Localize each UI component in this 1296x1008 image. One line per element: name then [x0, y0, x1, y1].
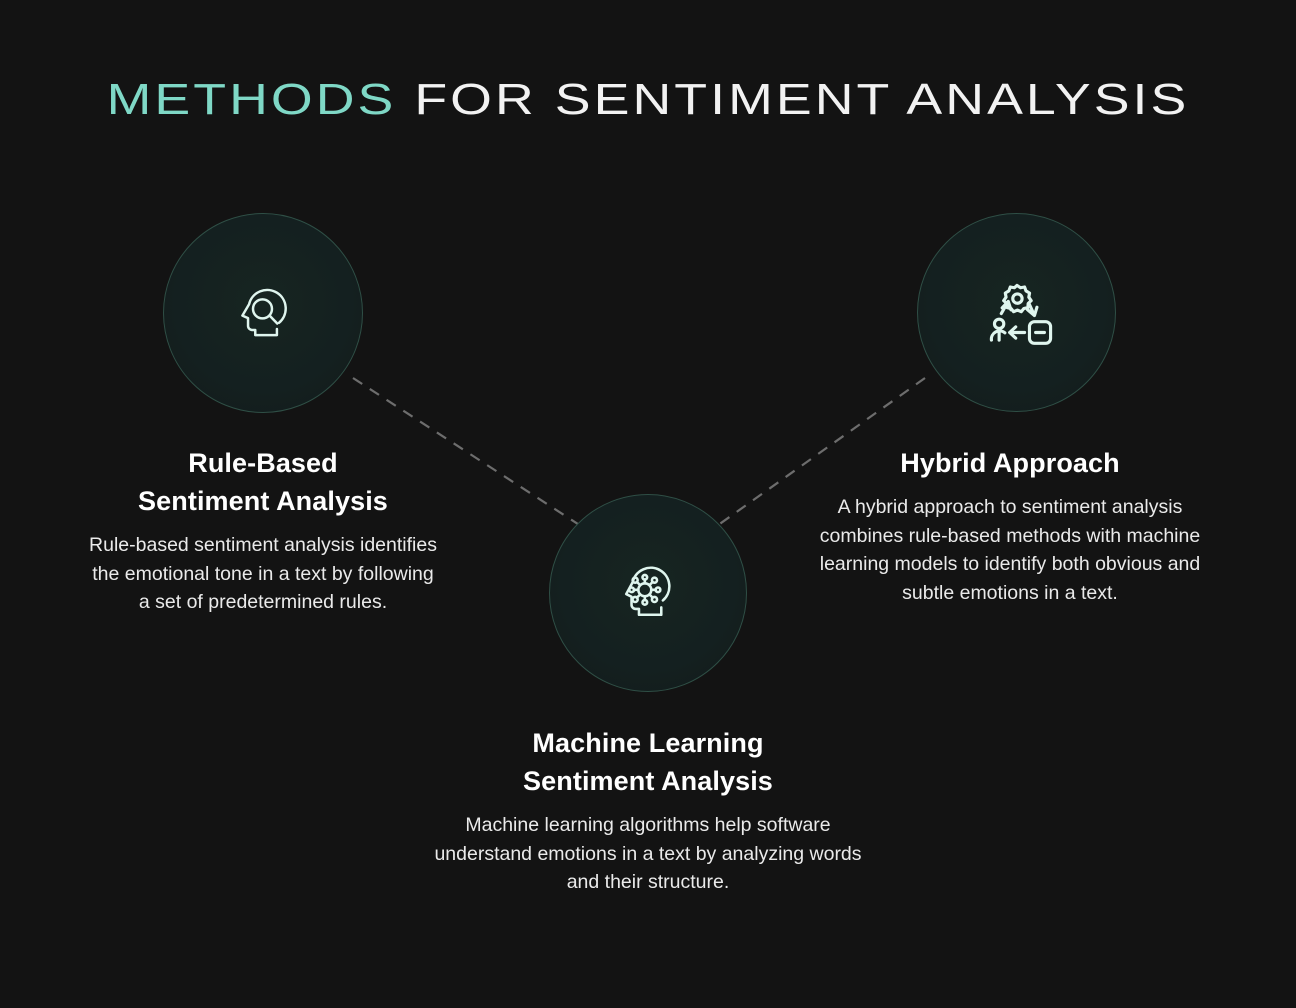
person-icon: [991, 319, 1004, 340]
node-circle-rule-based[interactable]: [163, 213, 363, 413]
node-circle-hybrid[interactable]: [917, 213, 1116, 412]
node-circle-machine-learning[interactable]: [549, 494, 747, 692]
arrow-left-icon: [1009, 326, 1024, 337]
head-neural-network-icon: [614, 559, 682, 627]
head-magnifier-icon: [230, 280, 296, 346]
heading-machine-learning: Machine LearningSentiment Analysis: [424, 724, 872, 800]
text-block-hybrid: Hybrid Approach A hybrid approach to sen…: [812, 444, 1208, 607]
text-block-rule-based: Rule-BasedSentiment Analysis Rule-based …: [88, 444, 438, 617]
heading-line-1: Hybrid Approach: [812, 444, 1208, 482]
arrow-up-icon: [1001, 301, 1011, 313]
infographic-canvas: METHODS FOR SENTIMENT ANALYSIS: [0, 0, 1296, 1008]
heading-line-2: Sentiment Analysis: [88, 482, 438, 520]
heading-rule-based: Rule-BasedSentiment Analysis: [88, 444, 438, 520]
gear-icon: [1003, 285, 1031, 311]
title-accent-word: METHODS: [107, 75, 397, 124]
page-title: METHODS FOR SENTIMENT ANALYSIS: [0, 72, 1296, 128]
body-machine-learning: Machine learning algorithms help softwar…: [424, 811, 872, 897]
machine-box-icon: [1029, 321, 1050, 343]
body-hybrid: A hybrid approach to sentiment analysis …: [812, 493, 1208, 607]
human-gear-machine-cycle-icon: [978, 274, 1056, 352]
body-rule-based: Rule-based sentiment analysis identifies…: [88, 531, 438, 617]
heading-line-1: Rule-Based: [88, 444, 438, 482]
heading-line-1: Machine Learning: [424, 724, 872, 762]
heading-line-2: Sentiment Analysis: [424, 762, 872, 800]
heading-hybrid: Hybrid Approach: [812, 444, 1208, 482]
title-rest: FOR SENTIMENT ANALYSIS: [396, 75, 1189, 124]
text-block-machine-learning: Machine LearningSentiment Analysis Machi…: [424, 724, 872, 897]
arrow-down-icon: [1027, 303, 1036, 315]
